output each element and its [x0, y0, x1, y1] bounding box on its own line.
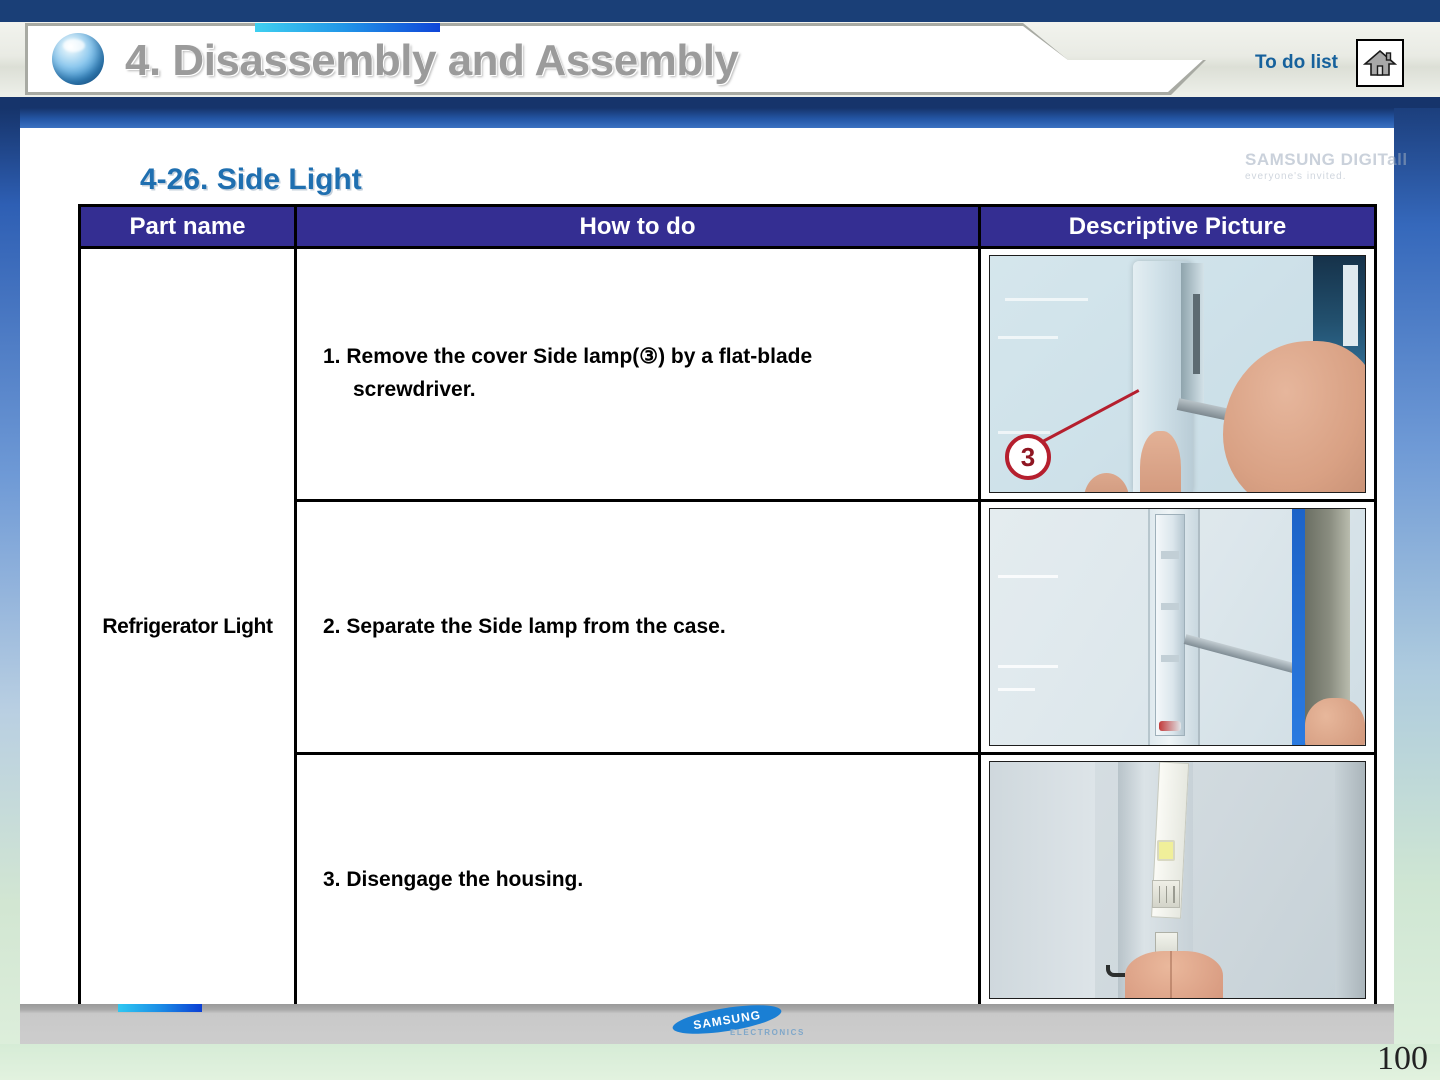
samsung-logo: SAMSUNG ELECTRONICS — [672, 1008, 812, 1042]
header-top-rule — [0, 0, 1440, 22]
header-accent-bar — [255, 23, 440, 32]
page-number: 100 — [1377, 1040, 1428, 1078]
step-1-line-1: 1. Remove the cover Side lamp(③) by a fl… — [323, 345, 812, 368]
home-button[interactable] — [1356, 39, 1404, 87]
part-name-cell: Refrigerator Light — [80, 248, 296, 1007]
section-title: 4-26. Side Light — [140, 163, 362, 197]
photo-separate-side-lamp — [989, 508, 1366, 746]
step-3-text: 3. Disengage the housing. — [296, 754, 980, 1007]
procedure-table: Part name How to do Descriptive Picture … — [78, 204, 1377, 1008]
page-title: 4. Disassembly and Assembly — [125, 36, 738, 86]
table-header-row: Part name How to do Descriptive Picture — [80, 206, 1376, 248]
picture-cell-2 — [980, 501, 1376, 754]
step-2-text: 2. Separate the Side lamp from the case. — [296, 501, 980, 754]
step-3-line-1: 3. Disengage the housing. — [323, 868, 583, 891]
slide-root: 4. Disassembly and Assembly To do list S… — [0, 0, 1440, 1080]
to-do-list-link[interactable]: To do list — [1255, 52, 1338, 74]
frame-left — [0, 108, 20, 1080]
home-icon — [1363, 48, 1397, 78]
frame-right — [1394, 108, 1440, 1080]
samsung-digitall-watermark: SAMSUNG DIGITall everyone's invited. — [1245, 150, 1420, 192]
samsung-logo-subtext: ELECTRONICS — [730, 1028, 805, 1037]
picture-cell-3 — [980, 754, 1376, 1007]
callout-marker-3: 3 — [1005, 434, 1051, 480]
column-header-how-to-do: How to do — [296, 206, 980, 248]
frame-bottom — [0, 1044, 1440, 1080]
watermark-line-2: everyone's invited. — [1245, 171, 1420, 182]
watermark-line-1: SAMSUNG DIGITall — [1245, 150, 1420, 170]
photo-disengage-housing — [989, 761, 1366, 999]
header-bottom-rule — [0, 97, 1440, 108]
column-header-part-name: Part name — [80, 206, 296, 248]
table-row: Refrigerator Light 1. Remove the cover S… — [80, 248, 1376, 501]
photo-remove-cover-side-lamp: 3 — [989, 255, 1366, 493]
step-1-line-2: screwdriver. — [323, 374, 978, 407]
frame-top — [0, 108, 1440, 128]
column-header-descriptive-picture: Descriptive Picture — [980, 206, 1376, 248]
picture-cell-1: 3 — [980, 248, 1376, 501]
step-2-line-1: 2. Separate the Side lamp from the case. — [323, 615, 726, 638]
blue-orb-icon — [52, 33, 104, 85]
step-1-text: 1. Remove the cover Side lamp(③) by a fl… — [296, 248, 980, 501]
footer-accent-bar — [118, 1004, 202, 1012]
slide-header: 4. Disassembly and Assembly To do list — [0, 0, 1440, 108]
